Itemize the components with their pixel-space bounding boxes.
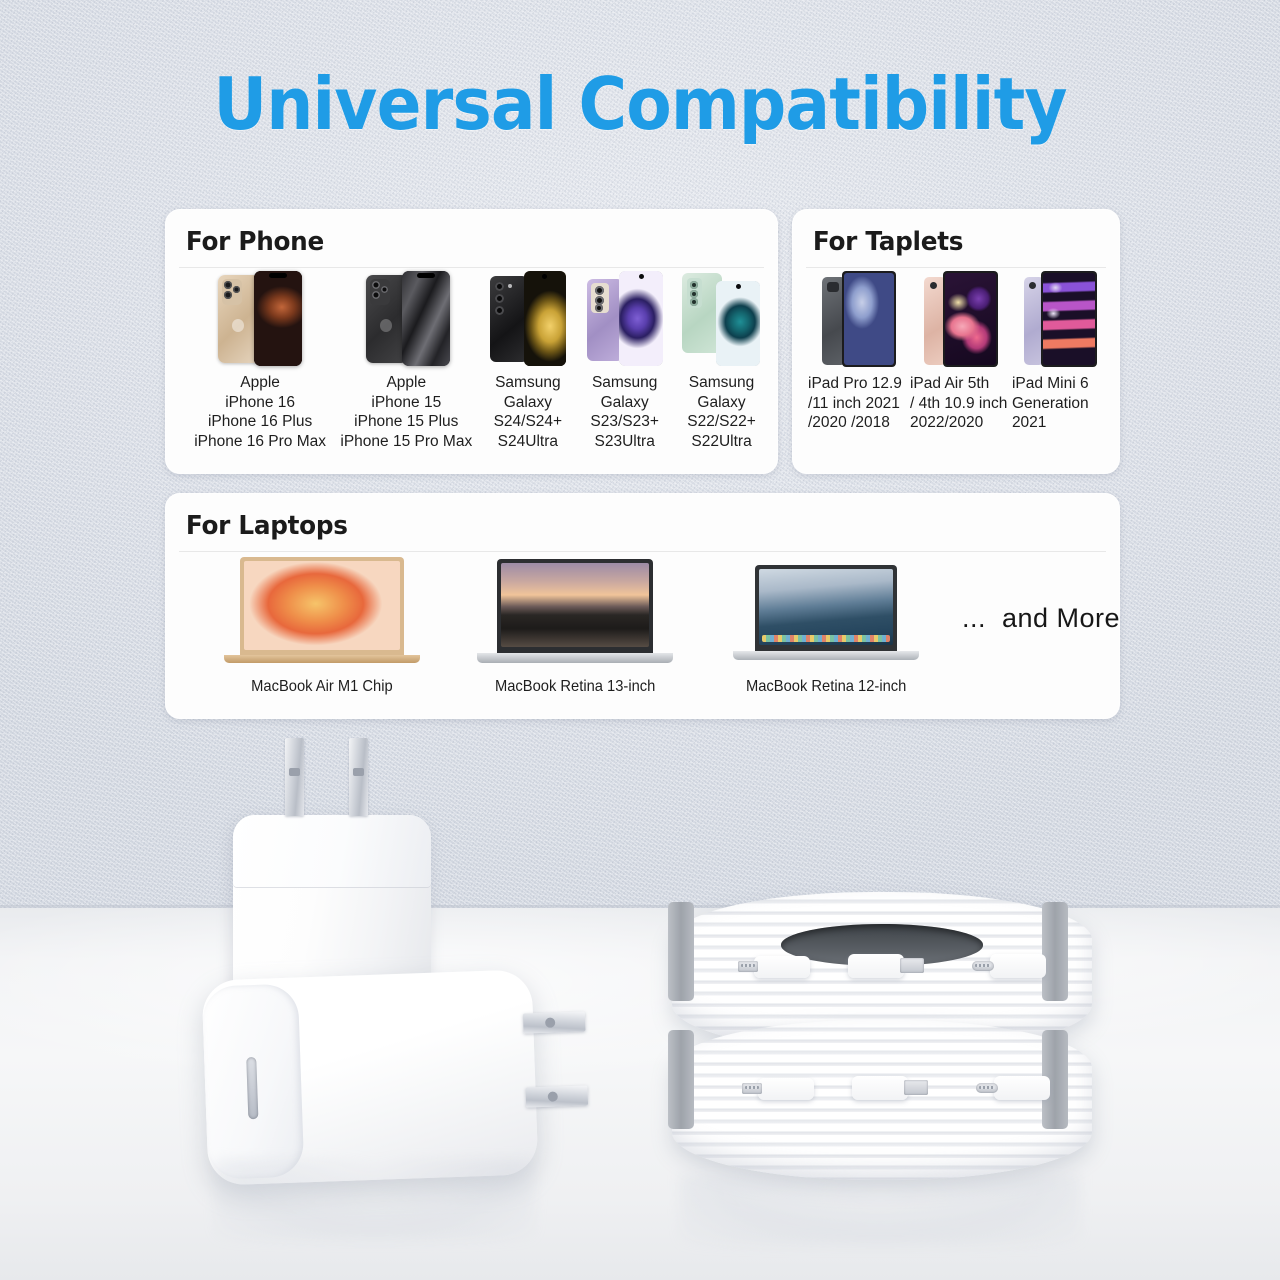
list-item[interactable]: Apple iPhone 16 iPhone 16 Plus iPhone 16…	[187, 271, 333, 451]
plug-prong	[523, 1011, 586, 1033]
macbook-retina-13-image	[475, 555, 675, 665]
connector-tip	[972, 961, 994, 971]
card-for-laptops: For Laptops MacBook Air M1 Chip	[165, 493, 1120, 719]
galaxy-s24-image	[482, 271, 574, 366]
lightning-connector	[758, 1078, 814, 1100]
galaxy-s22-image	[676, 271, 768, 366]
plug-prong	[349, 738, 368, 816]
card-heading-tablet: For Taplets	[792, 209, 1104, 257]
list-item[interactable]: Apple iPhone 15 iPhone 15 Plus iPhone 15…	[333, 271, 479, 451]
divider	[806, 267, 1106, 268]
laptop-item-list: MacBook Air M1 Chip MacBook Retina 13-in…	[165, 555, 1120, 719]
charger-front-face	[202, 983, 305, 1179]
list-item[interactable]: iPad Pro 12.9 /11 inch 2021 /2020 /2018	[808, 271, 910, 433]
usb-c-connector	[994, 1076, 1050, 1100]
iphone-15-image	[356, 271, 456, 366]
cable-tie	[668, 902, 694, 1001]
item-label: MacBook Retina 12-inch	[746, 677, 906, 697]
item-label: Samsung Galaxy S22/S22+ S22Ultra	[687, 373, 756, 451]
usb-c-port	[246, 1057, 258, 1119]
item-label: Samsung Galaxy S24/S24+ S24Ultra	[494, 373, 563, 451]
cable-tie	[1042, 902, 1068, 1001]
list-item[interactable]: MacBook Retina 13-inch	[453, 555, 696, 697]
phone-item-list: Apple iPhone 16 iPhone 16 Plus iPhone 16…	[165, 271, 778, 474]
item-label: MacBook Air M1 Chip	[251, 677, 393, 697]
macbook-air-m1-image	[222, 555, 422, 665]
card-heading-phone: For Phone	[165, 209, 747, 257]
connector-tip	[976, 1083, 998, 1093]
ipad-pro-image	[816, 271, 902, 367]
tablet-item-list: iPad Pro 12.9 /11 inch 2021 /2020 /2018 …	[792, 271, 1120, 474]
ipad-air-image	[918, 271, 1004, 367]
connector-tip	[742, 1083, 762, 1094]
plug-prong	[285, 738, 304, 816]
list-item[interactable]: iPad Mini 6 Generation 2021	[1012, 271, 1110, 433]
card-for-phone: For Phone	[165, 209, 778, 474]
prong-hole	[353, 768, 364, 776]
divider	[179, 267, 764, 268]
prong-hole	[545, 1018, 555, 1028]
item-label: iPad Air 5th / 4th 10.9 inch 2022/2020	[910, 374, 1012, 433]
infographic-stage: Universal Compatibility For Phone	[0, 0, 1280, 1280]
coil-body	[672, 1020, 1092, 1180]
list-item[interactable]: MacBook Air M1 Chip	[200, 555, 443, 697]
list-item[interactable]: Samsung Galaxy S24/S24+ S24Ultra	[479, 271, 576, 451]
list-item[interactable]: Samsung Galaxy S22/S22+ S22Ultra	[673, 271, 770, 451]
lightning-connector	[754, 956, 810, 978]
usb-c-connector	[990, 954, 1046, 978]
usb-a-connector	[852, 1076, 908, 1100]
item-label: MacBook Retina 13-inch	[495, 677, 655, 697]
item-label: iPad Pro 12.9 /11 inch 2021 /2020 /2018	[808, 374, 910, 433]
iphone-16-image	[210, 271, 310, 366]
list-item[interactable]: MacBook Retina 12-inch	[705, 555, 948, 697]
cable-tie	[668, 1030, 694, 1129]
item-label: Apple iPhone 16 iPhone 16 Plus iPhone 16…	[194, 373, 326, 451]
connector-tip	[900, 958, 924, 973]
item-label: iPad Mini 6 Generation 2021	[1012, 374, 1110, 433]
prong-hole	[289, 768, 300, 776]
and-more-label: ... and More	[962, 603, 1120, 634]
connector-tip	[738, 961, 758, 972]
item-label: Apple iPhone 15 iPhone 15 Plus iPhone 15…	[340, 373, 472, 451]
macbook-retina-12-image	[731, 555, 921, 665]
divider	[179, 551, 1106, 552]
card-heading-laptop: For Laptops	[165, 493, 1072, 541]
usb-a-connector	[848, 954, 904, 978]
charging-cable-coil-bottom	[672, 1020, 1092, 1180]
page-title: Universal Compatibility	[51, 62, 1229, 146]
card-for-tablets: For Taplets iPad Pro 12.9 /11 inch 2021 …	[792, 209, 1120, 474]
connector-tip	[904, 1080, 928, 1095]
prong-hole	[548, 1091, 558, 1101]
galaxy-s23-image	[579, 271, 671, 366]
list-item[interactable]: Samsung Galaxy S23/S23+ S23Ultra	[576, 271, 673, 451]
usb-c-wall-charger-lying	[202, 969, 539, 1185]
plug-prong	[525, 1085, 588, 1107]
ipad-mini-image	[1020, 271, 1102, 367]
item-label: Samsung Galaxy S23/S23+ S23Ultra	[590, 373, 659, 451]
list-item[interactable]: iPad Air 5th / 4th 10.9 inch 2022/2020	[910, 271, 1012, 433]
